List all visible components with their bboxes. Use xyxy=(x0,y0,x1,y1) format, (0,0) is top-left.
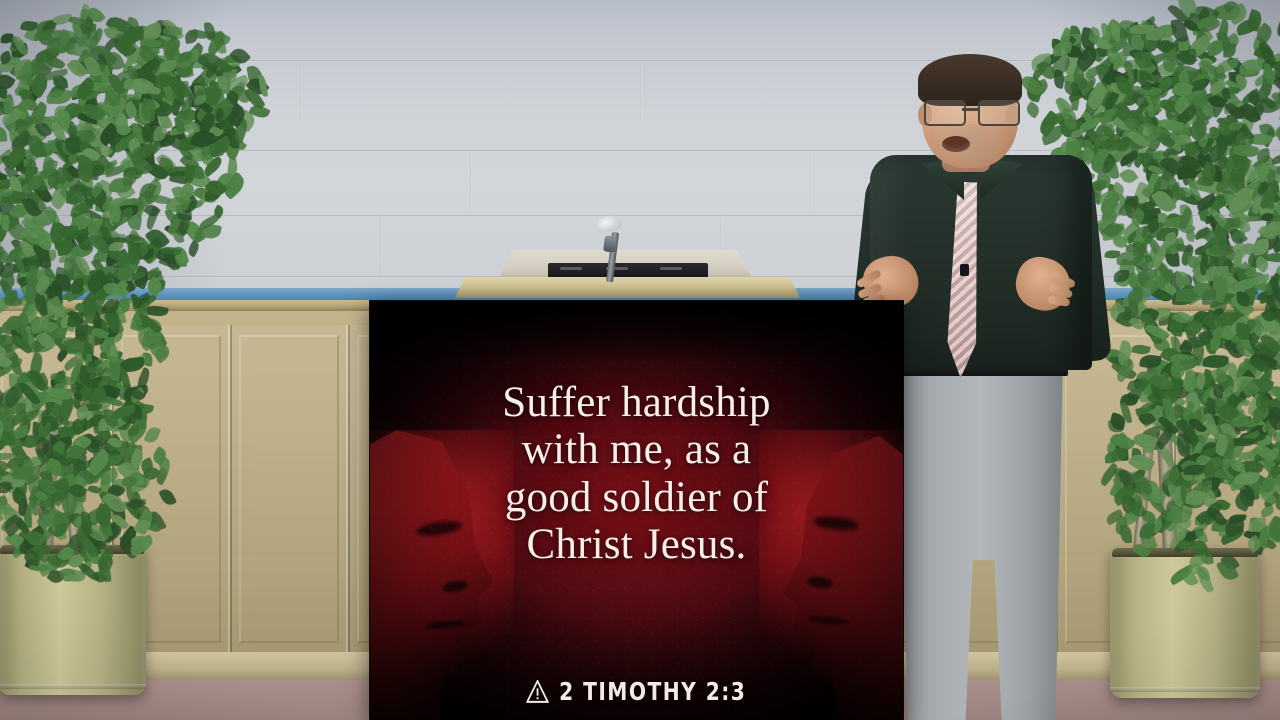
tree-leaf xyxy=(1132,344,1151,356)
eyeglasses-icon xyxy=(922,100,1018,122)
tree-leaf xyxy=(47,90,71,105)
scripture-quote: Suffer hardship with me, as a good soldi… xyxy=(370,379,903,568)
wall-block-seam xyxy=(640,60,642,120)
tree-leaf xyxy=(1274,15,1280,37)
tree-leaf xyxy=(158,486,177,507)
wall-block-seam xyxy=(380,215,382,275)
tree-leaf xyxy=(1121,525,1133,544)
tree-leaf xyxy=(1229,514,1246,523)
video-frame: Suffer hardship with me, as a good soldi… xyxy=(0,0,1280,720)
quote-line: good soldier of xyxy=(394,474,879,521)
lapel-microphone-icon xyxy=(960,264,969,276)
wall-block-seam xyxy=(300,60,302,120)
tree-leaf xyxy=(1119,166,1138,185)
wall-block-seam xyxy=(810,150,812,210)
slide-top-fade xyxy=(370,301,903,363)
tree-leaf xyxy=(123,170,137,186)
speaker-trousers xyxy=(890,365,1070,720)
scripture-slide-overlay: Suffer hardship with me, as a good soldi… xyxy=(370,301,903,720)
tree-leaf xyxy=(1271,153,1280,165)
pulpit-nameplate xyxy=(548,263,708,279)
quote-line: Suffer hardship xyxy=(394,379,879,426)
tree-leaf xyxy=(1232,437,1255,447)
citation-text: 2 TIMOTHY 2:3 xyxy=(559,677,746,706)
tree-leaf xyxy=(1140,71,1151,90)
quote-line: Christ Jesus. xyxy=(394,521,879,568)
tree-leaf xyxy=(1260,505,1275,517)
scripture-citation: 2 TIMOTHY 2:3 xyxy=(397,677,877,706)
tree-leaf xyxy=(1224,43,1236,57)
speaker-hair xyxy=(918,54,1022,106)
tree-canopy xyxy=(0,0,260,560)
planter-pot xyxy=(0,545,146,695)
microphone-clip xyxy=(603,235,617,253)
wall-block-seam xyxy=(470,150,472,210)
pulpit-top-ledge xyxy=(455,277,800,298)
speaker-mouth xyxy=(942,136,970,152)
quote-line: with me, as a xyxy=(394,426,879,473)
artificial-ficus-tree-left xyxy=(0,0,260,720)
tree-leaf xyxy=(186,240,201,258)
warning-triangle-icon xyxy=(527,680,550,703)
